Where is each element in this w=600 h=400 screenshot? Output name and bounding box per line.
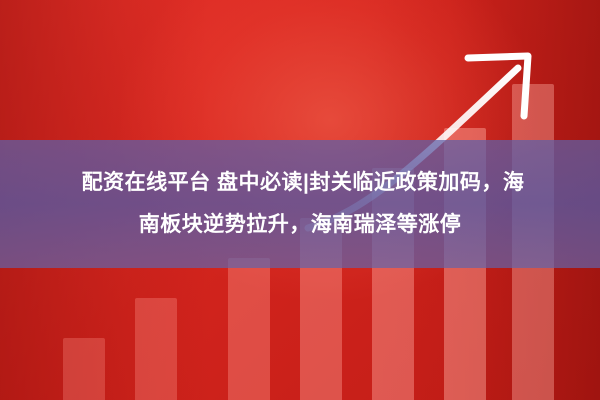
headline-line-2: 南板块逆势拉升，海南瑞泽等涨停 <box>139 204 462 246</box>
chart-bar <box>63 338 105 400</box>
headline-text: 配资在线平台 盘中必读|封关临近政策加码，海 南板块逆势拉升，海南瑞泽等涨停 <box>0 140 600 268</box>
headline-line-1: 配资在线平台 盘中必读|封关临近政策加码，海 <box>76 162 525 204</box>
chart-bar <box>228 258 270 400</box>
banner-image: 配资在线平台 盘中必读|封关临近政策加码，海 南板块逆势拉升，海南瑞泽等涨停 <box>0 0 600 400</box>
chart-bar <box>135 298 177 400</box>
